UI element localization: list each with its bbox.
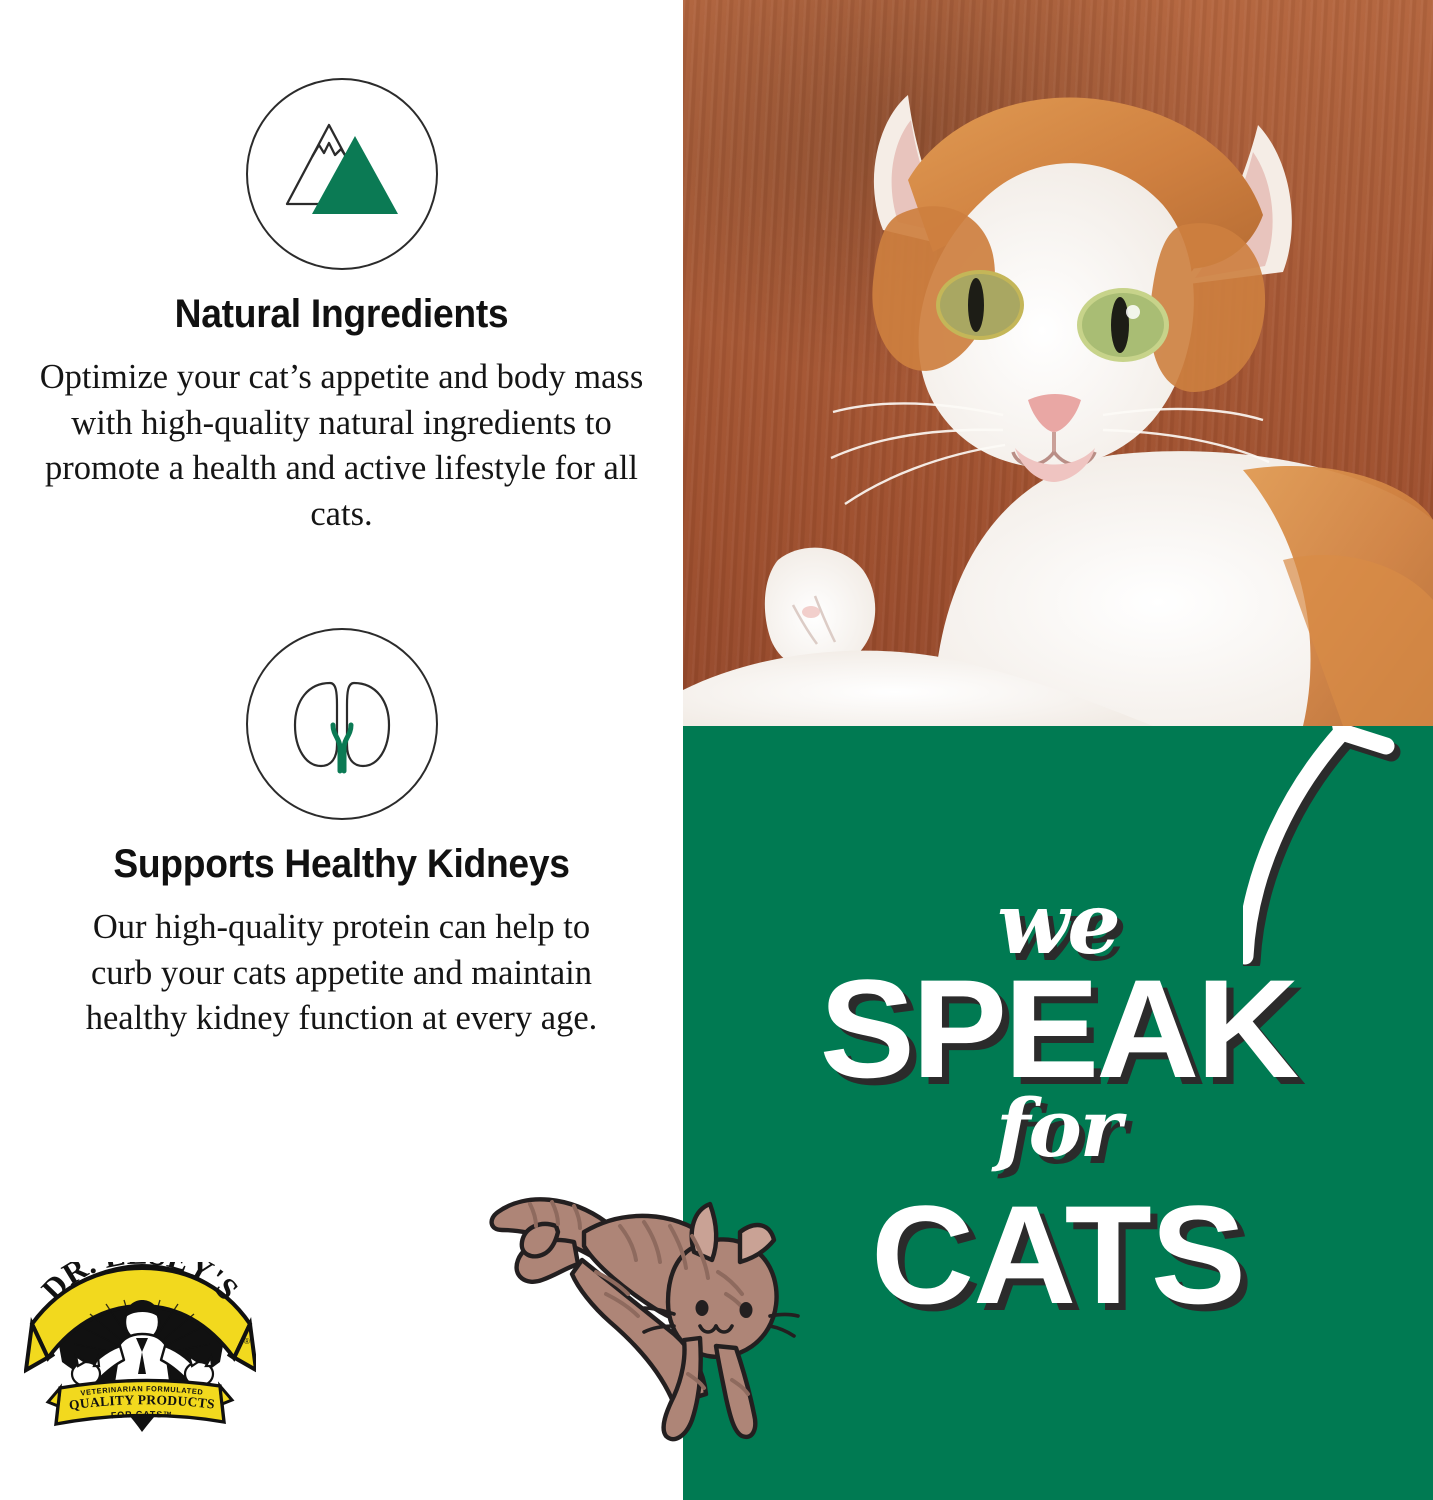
logo-registered-mark: ®: [244, 1337, 250, 1346]
kidneys-icon-circle: [246, 628, 438, 820]
mountains-icon-circle: [246, 78, 438, 270]
feature-title: Natural Ingredients: [24, 292, 659, 337]
feature-description: Our high-quality protein can help to cur…: [0, 905, 683, 1042]
dr-elseys-logo: DR. ELSEY'S ® VETERINARIAN FOR: [24, 1262, 256, 1438]
logo-banner-line-3: FOR CATS™: [111, 1409, 174, 1420]
cat-photo: [683, 0, 1433, 726]
cat-photo-subject: [683, 0, 1433, 726]
feature-icon-wrapper: [0, 628, 683, 820]
kidneys-icon: [267, 649, 417, 799]
feature-description: Optimize your cat’s appetite and body ma…: [0, 355, 683, 537]
feature-icon-wrapper: [0, 78, 683, 270]
feature-supports-healthy-kidneys: Supports Healthy Kidneys Our high-qualit…: [0, 628, 683, 1042]
leaping-cat-illustration: [478, 1168, 848, 1458]
tagline-word-for: for: [683, 1081, 1433, 1175]
mountains-icon: [267, 99, 417, 249]
feature-title: Supports Healthy Kidneys: [24, 842, 659, 887]
feature-natural-ingredients: Natural Ingredients Optimize your cat’s …: [0, 78, 683, 537]
